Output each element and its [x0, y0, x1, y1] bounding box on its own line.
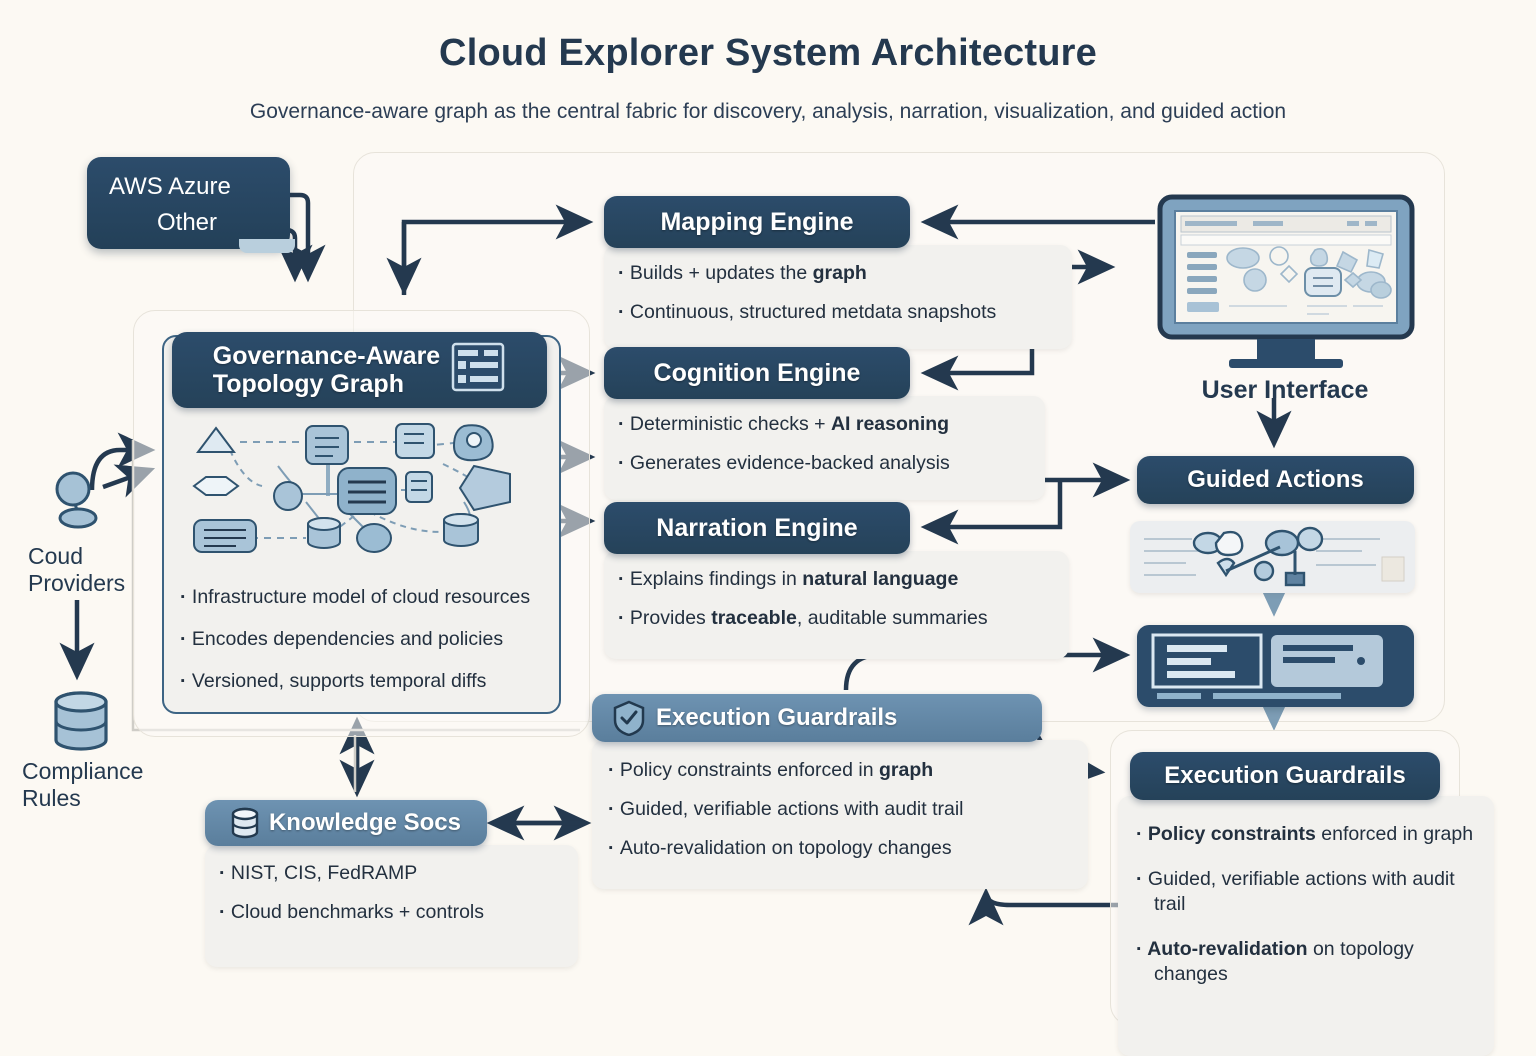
knowledge-sources-title: Knowledge Socs: [269, 809, 461, 837]
guardrails-right-header[interactable]: Execution Guardrails: [1130, 752, 1440, 800]
mapping-engine-header[interactable]: Mapping Engine: [604, 196, 910, 248]
knowledge-sources-bullets: NIST, CIS, FedRAMP Cloud benchmarks + co…: [219, 861, 564, 925]
cognition-engine-bullets: Deterministic checks + AI reasoning Gene…: [618, 412, 1031, 476]
shield-check-icon: [612, 700, 646, 736]
mapping-engine-card: Builds + updates the graph Continuous, s…: [604, 245, 1072, 349]
database-cylinder-icon: [48, 688, 114, 754]
monitor-icon: [1157, 194, 1415, 341]
list-item: Encodes dependencies and policies: [180, 627, 575, 652]
mapping-engine-title: Mapping Engine: [660, 208, 853, 237]
knowledge-sources-card: NIST, CIS, FedRAMP Cloud benchmarks + co…: [205, 845, 578, 967]
cognition-engine-title: Cognition Engine: [654, 359, 861, 388]
list-item: Auto-revalidation on topology changes: [1136, 937, 1476, 987]
list-item: Policy constraints enforced in graph: [608, 758, 1072, 783]
list-item: NIST, CIS, FedRAMP: [219, 861, 564, 886]
terminal-panel-illustration: [1137, 625, 1414, 707]
diagram-canvas: Cloud Explorer System Architecture Gover…: [0, 0, 1536, 1024]
cognition-engine-card: Deterministic checks + AI reasoning Gene…: [604, 396, 1045, 500]
chip-tab-decoration: [239, 239, 295, 253]
list-item: Continuous, structured metdata snapshots: [618, 300, 1058, 325]
list-item: Policy constraints enforced in graph: [1136, 822, 1476, 847]
guardrails-right-bullets: Policy constraints enforced in graph Gui…: [1136, 822, 1476, 987]
topology-title: Governance-Aware Topology Graph: [213, 342, 440, 398]
guided-actions-title: Guided Actions: [1187, 466, 1363, 494]
list-item: Guided, verifiable actions with audit tr…: [1136, 867, 1476, 917]
list-item: Auto-revalidation on topology changes: [608, 836, 1072, 861]
compliance-rules-label: Compliance Rules: [22, 758, 192, 812]
guardrails-center-header[interactable]: Execution Guardrails: [592, 694, 1042, 742]
providers-line-1: AWS Azure: [109, 173, 231, 201]
topology-graph-header[interactable]: Governance-Aware Topology Graph: [172, 332, 547, 408]
guided-actions-header[interactable]: Guided Actions: [1137, 456, 1414, 504]
guardrails-center-title: Execution Guardrails: [656, 704, 897, 732]
server-rack-icon: [450, 341, 506, 400]
narration-engine-bullets: Explains findings in natural language Pr…: [618, 567, 1055, 631]
user-interface-label: User Interface: [1110, 376, 1460, 405]
database-icon: [231, 807, 259, 839]
list-item: Explains findings in natural language: [618, 567, 1055, 592]
narration-engine-card: Explains findings in natural language Pr…: [604, 551, 1069, 659]
narration-engine-header[interactable]: Narration Engine: [604, 502, 910, 554]
cognition-engine-header[interactable]: Cognition Engine: [604, 347, 910, 399]
narration-engine-title: Narration Engine: [656, 514, 857, 543]
cloud-providers-chip[interactable]: AWS Azure Other: [87, 157, 290, 249]
list-item: Builds + updates the graph: [618, 261, 1058, 286]
list-item: Provides traceable, auditable summaries: [618, 606, 1055, 631]
list-item: Infrastructure model of cloud resources: [180, 585, 575, 610]
guardrails-center-bullets: Policy constraints enforced in graph Gui…: [608, 758, 1072, 861]
knowledge-sources-header[interactable]: Knowledge Socs: [205, 800, 487, 846]
cloud-search-icon: [45, 470, 125, 530]
guided-actions-illustration: [1130, 521, 1415, 593]
list-item: Deterministic checks + AI reasoning: [618, 412, 1031, 437]
topology-bullet-list: Infrastructure model of cloud resources …: [180, 585, 575, 711]
guardrails-right-card: Policy constraints enforced in graph Gui…: [1118, 796, 1494, 1056]
providers-line-2: Other: [157, 209, 217, 237]
list-item: Guided, verifiable actions with audit tr…: [608, 797, 1072, 822]
page-title: Cloud Explorer System Architecture: [0, 32, 1536, 75]
page-subtitle: Governance-aware graph as the central fa…: [0, 100, 1536, 124]
guardrails-center-card: Policy constraints enforced in graph Gui…: [592, 740, 1088, 889]
topology-graph-illustration: [178, 420, 544, 560]
list-item: Generates evidence-backed analysis: [618, 451, 1031, 476]
mapping-engine-bullets: Builds + updates the graph Continuous, s…: [618, 261, 1058, 325]
list-item: Cloud benchmarks + controls: [219, 900, 564, 925]
list-item: Versioned, supports temporal diffs: [180, 669, 575, 694]
guardrails-right-title: Execution Guardrails: [1164, 762, 1405, 790]
